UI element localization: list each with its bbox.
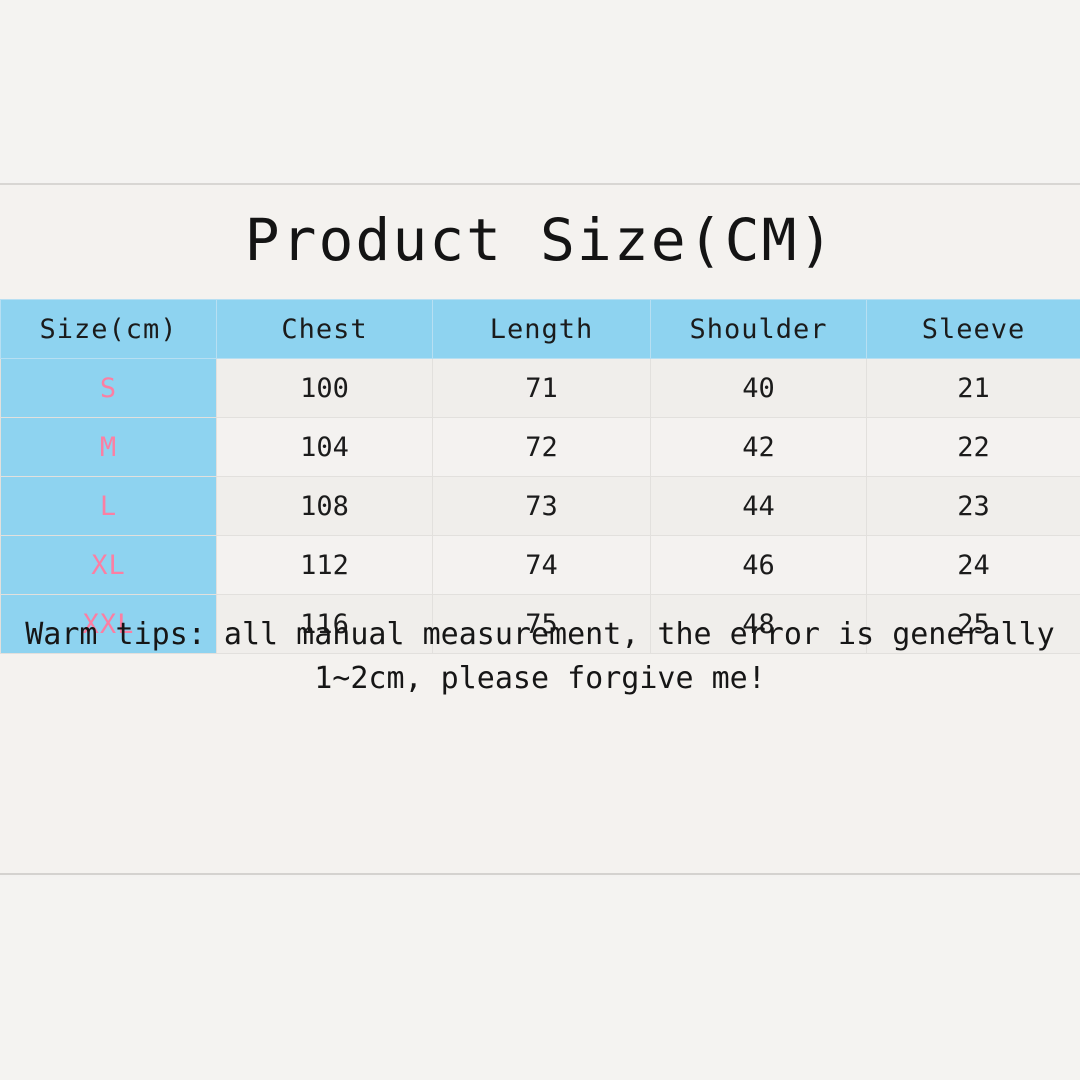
cell-sleeve: 23 xyxy=(867,477,1080,536)
table-header: Size(cm) Chest Length Shoulder Sleeve xyxy=(1,300,1080,359)
table-row: XL 112 74 46 24 xyxy=(1,536,1080,595)
table-row: L 108 73 44 23 xyxy=(1,477,1080,536)
cell-size: XL xyxy=(1,536,217,595)
cell-shoulder: 42 xyxy=(651,418,867,477)
cell-size: L xyxy=(1,477,217,536)
size-chart-page: Product Size(CM) Size(cm) Chest Length S… xyxy=(0,0,1080,1080)
cell-length: 73 xyxy=(433,477,651,536)
cell-chest: 104 xyxy=(217,418,433,477)
cell-chest: 112 xyxy=(217,536,433,595)
cell-shoulder: 44 xyxy=(651,477,867,536)
cell-chest: 100 xyxy=(217,359,433,418)
page-title: Product Size(CM) xyxy=(0,209,1080,273)
table-header-row: Size(cm) Chest Length Shoulder Sleeve xyxy=(1,300,1080,359)
col-header-sleeve: Sleeve xyxy=(867,300,1080,359)
cell-sleeve: 22 xyxy=(867,418,1080,477)
col-header-length: Length xyxy=(433,300,651,359)
col-header-chest: Chest xyxy=(217,300,433,359)
table-body: S 100 71 40 21 M 104 72 42 22 L 108 73 xyxy=(1,359,1080,654)
bottom-spacer xyxy=(0,877,1080,1080)
cell-size: M xyxy=(1,418,217,477)
cell-sleeve: 24 xyxy=(867,536,1080,595)
col-header-size: Size(cm) xyxy=(1,300,217,359)
cell-chest: 108 xyxy=(217,477,433,536)
cell-sleeve: 21 xyxy=(867,359,1080,418)
cell-shoulder: 46 xyxy=(651,536,867,595)
col-header-shoulder: Shoulder xyxy=(651,300,867,359)
cell-length: 74 xyxy=(433,536,651,595)
size-table: Size(cm) Chest Length Shoulder Sleeve S … xyxy=(0,299,1080,654)
table-row: M 104 72 42 22 xyxy=(1,418,1080,477)
size-chart-card: Product Size(CM) Size(cm) Chest Length S… xyxy=(0,183,1080,875)
cell-size: S xyxy=(1,359,217,418)
top-spacer xyxy=(0,0,1080,183)
warm-tips-line-1: Warm tips: all manual measurement, the e… xyxy=(0,613,1080,657)
warm-tips: Warm tips: all manual measurement, the e… xyxy=(0,613,1080,700)
cell-shoulder: 40 xyxy=(651,359,867,418)
cell-length: 72 xyxy=(433,418,651,477)
cell-length: 71 xyxy=(433,359,651,418)
table-row: S 100 71 40 21 xyxy=(1,359,1080,418)
warm-tips-line-2: 1~2cm, please forgive me! xyxy=(0,657,1080,701)
